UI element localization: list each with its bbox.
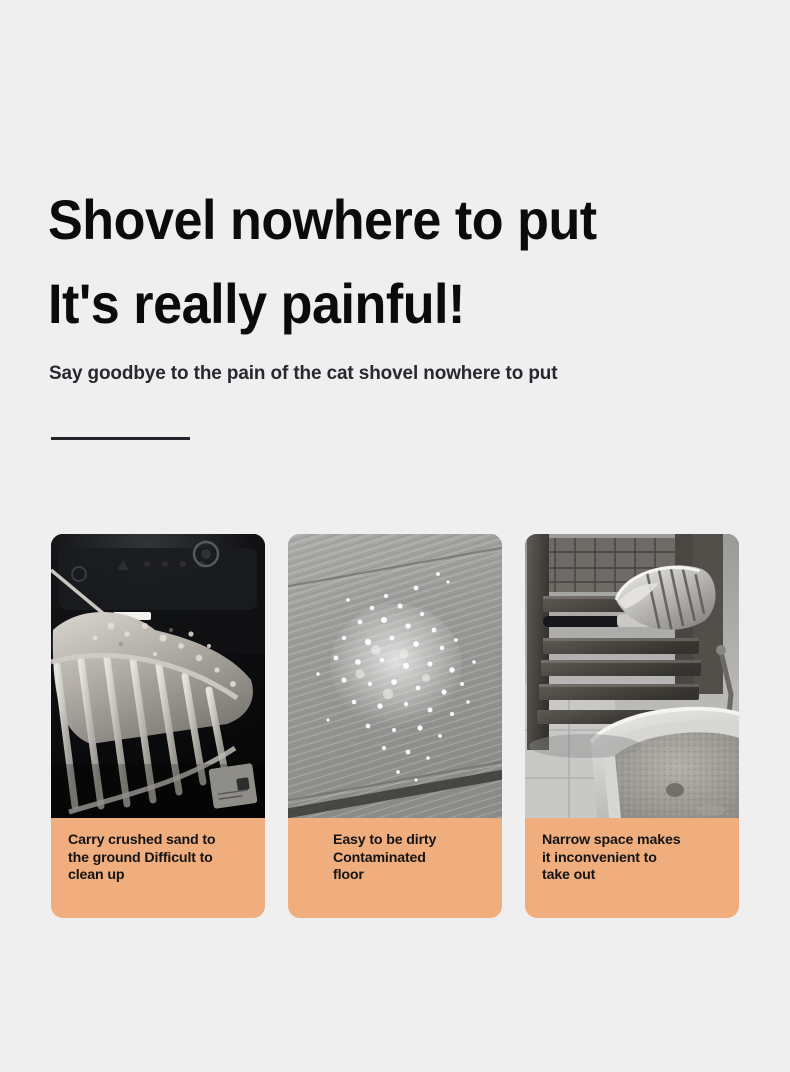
spilled-litter-on-floor-photo [288, 534, 502, 818]
problem-card-caption: Easy to be dirty Contaminated floor [288, 818, 502, 918]
page-subtitle: Say goodbye to the pain of the cat shove… [49, 362, 557, 385]
promo-page: Shovel nowhere to put It's really painfu… [0, 0, 790, 1072]
problem-card-list: Carry crushed sand to the ground Difficu… [51, 534, 739, 918]
problem-card: Easy to be dirty Contaminated floor [288, 534, 502, 918]
headline-line-1: Shovel nowhere to put [48, 178, 699, 262]
caption-text: Narrow space makes it inconvenient to ta… [542, 832, 725, 885]
problem-card: Carry crushed sand to the ground Difficu… [51, 534, 265, 918]
page-title: Shovel nowhere to put It's really painfu… [48, 178, 748, 346]
caption-text: Carry crushed sand to the ground Difficu… [68, 832, 251, 885]
problem-card-caption: Narrow space makes it inconvenient to ta… [525, 818, 739, 918]
problem-card: Narrow space makes it inconvenient to ta… [525, 534, 739, 918]
scoop-with-clumped-sand-photo [51, 534, 265, 818]
scoop-on-rack-beside-litter-box-photo [525, 534, 739, 818]
title-divider [51, 437, 190, 440]
problem-card-caption: Carry crushed sand to the ground Difficu… [51, 818, 265, 918]
headline-line-2: It's really painful! [48, 262, 699, 346]
caption-text: Easy to be dirty Contaminated floor [333, 832, 488, 885]
